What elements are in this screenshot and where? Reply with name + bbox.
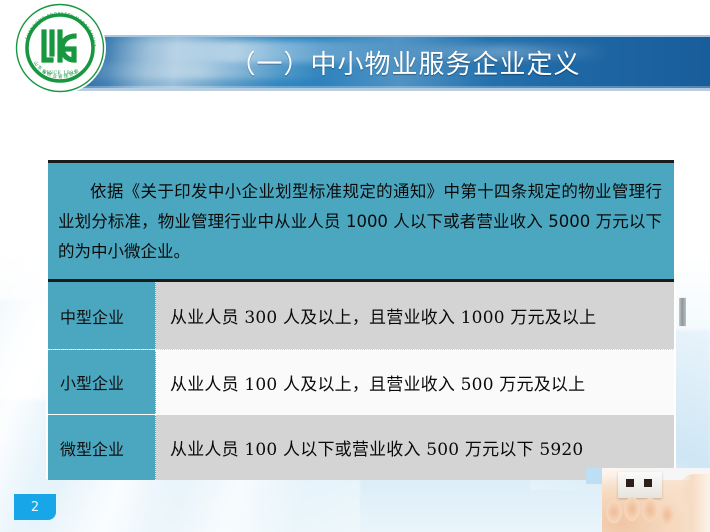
house-window-icon bbox=[644, 479, 652, 487]
definition-paragraph: 依据《关于印发中小企业划型标准规定的通知》中第十四条规定的物业管理行业划分标准，… bbox=[58, 177, 662, 267]
house-window-icon bbox=[626, 479, 634, 487]
enterprise-size-label: 小型企业 bbox=[48, 350, 156, 414]
definition-table: 依据《关于印发中小企业划型标准规定的通知》中第十四条规定的物业管理行业划分标准，… bbox=[46, 158, 676, 479]
association-logo: SHANDONG PROPERTY MANAGEMENT ASSOCIATION… bbox=[14, 2, 106, 94]
enterprise-criteria-value: 从业人员 300 人及以上，且营业收入 1000 万元及以上 bbox=[156, 282, 674, 349]
hands-holding-small-house-photo bbox=[602, 468, 710, 532]
enterprise-criteria-value: 从业人员 100 人及以上，且营业收入 500 万元及以上 bbox=[156, 350, 674, 414]
enterprise-size-label: 中型企业 bbox=[48, 282, 156, 349]
svg-text:SINCE 1993: SINCE 1993 bbox=[43, 70, 77, 76]
scrollbar-artifact[interactable] bbox=[679, 297, 686, 327]
background-blue-accent bbox=[586, 468, 602, 484]
page-title: （一）中小物业服务企业定义 bbox=[60, 37, 710, 88]
photo-fingers bbox=[604, 492, 682, 532]
table-row: 微型企业 从业人员 100 人以下或营业收入 500 万元以下 5920 bbox=[48, 415, 674, 480]
enterprise-size-label: 微型企业 bbox=[48, 415, 156, 480]
page-number-badge: 2 bbox=[14, 494, 56, 520]
photo-arm bbox=[680, 474, 710, 532]
table-row: 中型企业 从业人员 300 人及以上，且营业收入 1000 万元及以上 bbox=[48, 282, 674, 350]
table-row: 小型企业 从业人员 100 人及以上，且营业收入 500 万元及以上 bbox=[48, 350, 674, 415]
slide-title-banner: （一）中小物业服务企业定义 bbox=[60, 35, 710, 91]
table-header-cell: 依据《关于印发中小企业划型标准规定的通知》中第十四条规定的物业管理行业划分标准，… bbox=[48, 160, 674, 282]
presentation-slide: （一）中小物业服务企业定义 SHANDONG PROPERTY MANAGEME… bbox=[0, 0, 710, 532]
